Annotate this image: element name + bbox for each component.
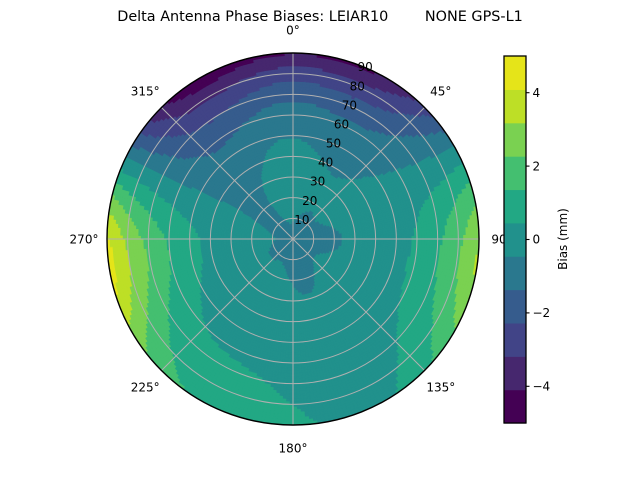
- figure-canvas: Delta Antenna Phase Biases: LEIAR10 NONE…: [0, 0, 640, 480]
- figure-svg: 0°45°90°135°180°225°270°315° 10203040506…: [0, 0, 640, 480]
- polar-plot-container: 0°45°90°135°180°225°270°315° 10203040506…: [0, 0, 640, 480]
